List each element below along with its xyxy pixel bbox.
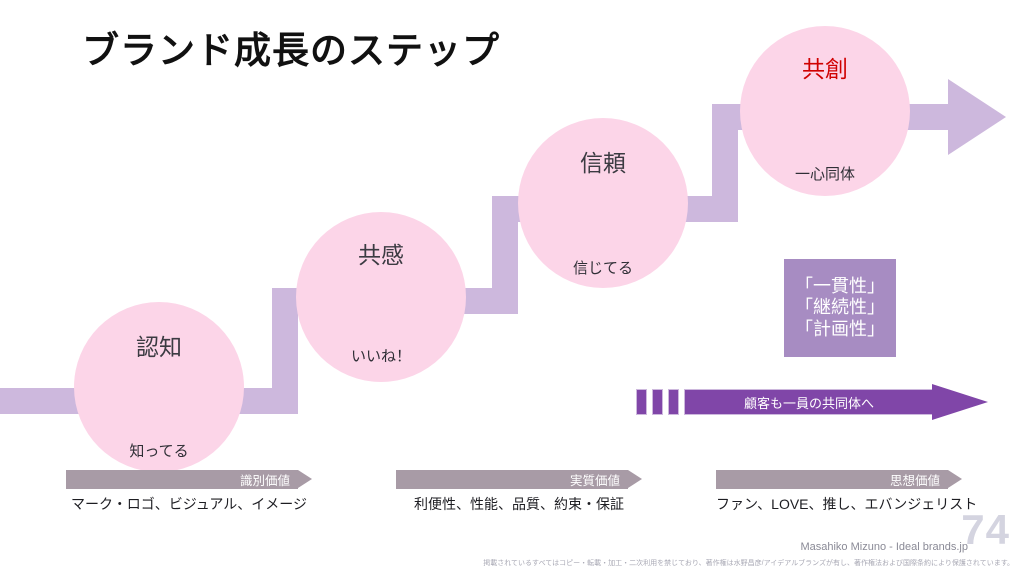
keyword-consistency: 「一貫性」 <box>795 276 885 297</box>
step-label-1: 認知 <box>74 328 244 362</box>
value-desc-2: 利便性、性能、品質、約束・保証 <box>396 494 642 514</box>
step-label-3: 信頼 <box>518 144 688 178</box>
step-label-2: 共感 <box>296 236 466 270</box>
page-number: 74 <box>961 506 1010 554</box>
value-bar-label-3: 思想価値 <box>890 470 940 489</box>
keyword-continuity: 「継続性」 <box>795 297 885 318</box>
step-sub-3: 信じてる <box>518 257 688 278</box>
community-arrowhead-icon <box>932 384 988 420</box>
arrow-dash-2 <box>652 389 663 415</box>
slide-canvas: ブランド成長のステップ 認知 知ってる 共感 いいね！ 信頼 信じてる 共創 一… <box>0 0 1024 576</box>
community-arrow-label: 顧客も一員の共同体へ <box>684 389 934 415</box>
arrow-dash-1 <box>636 389 647 415</box>
value-desc-1: マーク・ロゴ、ビジュアル、イメージ <box>66 494 312 514</box>
keyword-planning: 「計画性」 <box>795 319 885 340</box>
step-sub-2: いいね！ <box>296 345 466 366</box>
value-bar-head-3 <box>948 470 962 488</box>
credit-line: Masahiko Mizuno - Ideal brands.jp <box>800 541 968 553</box>
arrow-dash-3 <box>668 389 679 415</box>
step-sub-1: 知ってる <box>74 440 244 461</box>
stair-arrowhead-icon <box>948 79 1006 155</box>
value-bar-label-1: 識別価値 <box>240 470 290 489</box>
value-bar-head-1 <box>298 470 312 488</box>
copyright-disclaimer: 掲載されているすべてはコピー・転載・加工・二次利用を禁じており、著作権は水野昌彦… <box>483 558 1014 568</box>
value-desc-3: ファン、LOVE、推し、エバンジェリスト <box>716 494 962 514</box>
page-title: ブランド成長のステップ <box>82 20 500 74</box>
keyword-box: 「一貫性」 「継続性」 「計画性」 <box>784 259 896 357</box>
step-label-4: 共創 <box>740 50 910 84</box>
value-bar-head-2 <box>628 470 642 488</box>
step-sub-4: 一心同体 <box>740 163 910 184</box>
community-arrow: 顧客も一員の共同体へ <box>636 389 988 415</box>
value-bar-label-2: 実質価値 <box>570 470 620 489</box>
